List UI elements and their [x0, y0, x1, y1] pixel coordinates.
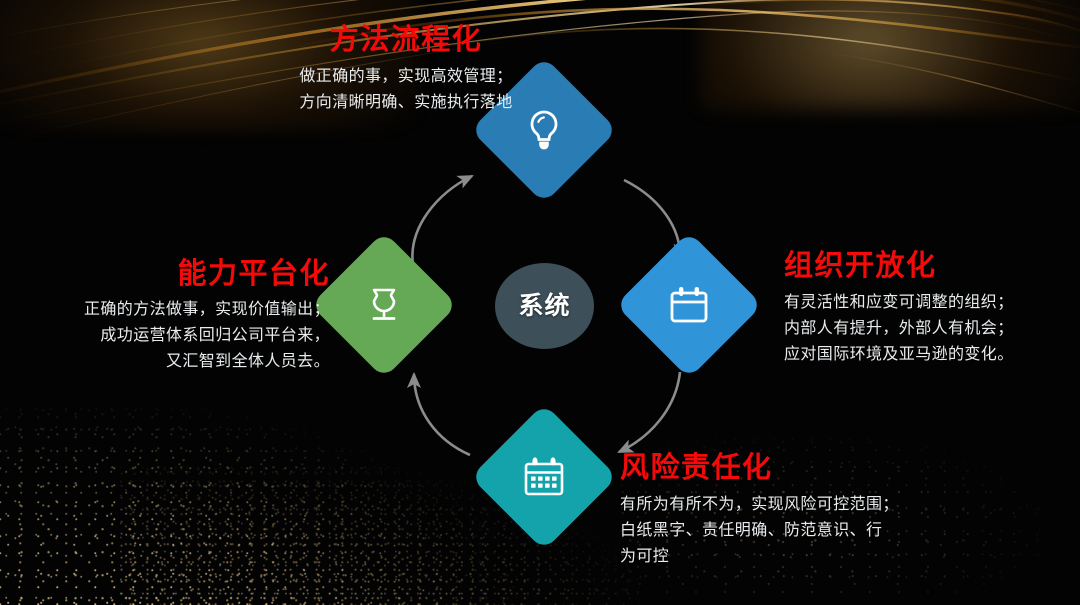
node-right-diamond[interactable]	[615, 231, 762, 378]
hub-circle: 系统	[495, 263, 594, 349]
heading-method-process: 方法流程化	[196, 24, 616, 56]
calendar-icon	[663, 279, 715, 331]
hub-label: 系统	[518, 293, 570, 319]
text-block-left: 能力平台化 正确的方法做事，实现价值输出； 成功运营体系回归公司平台来， 又汇智…	[10, 258, 330, 375]
calendar-grid-icon	[518, 451, 570, 503]
body-organization-open: 有灵活性和应变可调整的组织； 内部人有提升，外部人有机会； 应对国际环境及亚马逊…	[784, 290, 1076, 368]
body-capability-platform: 正确的方法做事，实现价值输出； 成功运营体系回归公司平台来， 又汇智到全体人员去…	[10, 297, 330, 375]
trophy-icon	[358, 279, 410, 331]
node-left-diamond[interactable]	[310, 231, 457, 378]
text-block-right: 组织开放化 有灵活性和应变可调整的组织； 内部人有提升，外部人有机会； 应对国际…	[784, 250, 1076, 368]
body-method-process: 做正确的事，实现高效管理； 方向清晰明确、实施执行落地	[196, 64, 616, 116]
heading-organization-open: 组织开放化	[784, 250, 1076, 282]
heading-risk-responsibility: 风险责任化	[620, 452, 1020, 484]
text-block-top: 方法流程化 做正确的事，实现高效管理； 方向清晰明确、实施执行落地	[196, 24, 616, 116]
heading-capability-platform: 能力平台化	[10, 258, 330, 290]
slide-canvas: 系统 方法流程化 做正确的事，实现高效管理； 方向清晰明确、实施执行落地 能力平…	[0, 0, 1080, 605]
node-bottom-diamond[interactable]	[470, 403, 617, 550]
body-risk-responsibility: 有所为有所不为，实现风险可控范围； 白纸黑字、责任明确、防范意识、行 为可控	[620, 492, 1020, 570]
text-block-bottom: 风险责任化 有所为有所不为，实现风险可控范围； 白纸黑字、责任明确、防范意识、行…	[620, 452, 1020, 570]
